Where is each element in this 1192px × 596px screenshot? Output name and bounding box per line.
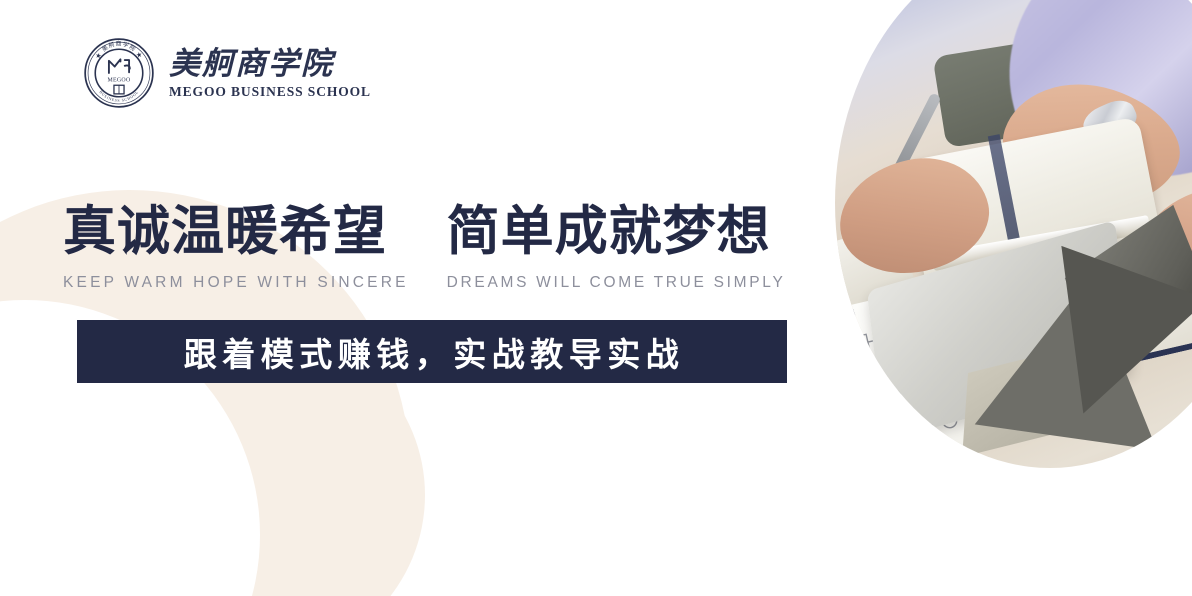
small-notebook-shape (835, 223, 919, 330)
folded-case-facet-light (962, 339, 1104, 457)
paper-sketch-drawing-icon (835, 289, 1022, 463)
folded-case-facet-mid (1065, 205, 1192, 367)
open-notebook-shape (902, 116, 1163, 294)
business-meeting-photo (835, 0, 1192, 468)
slogan-text: 跟着模式赚钱，实战教导实战 (180, 328, 685, 376)
notebook-page-edge-shape (931, 215, 1151, 271)
headline-phrase-2: 简单成就梦想 DREAMS WILL COME TRUE SIMPLY (447, 203, 786, 291)
notebook-spine-shape (988, 134, 1026, 274)
slogan-bar: 跟着模式赚钱，实战教导实战 (77, 320, 787, 383)
folded-case-facet-darker (1010, 246, 1192, 440)
brand-logo[interactable]: ★ 美舸商学院 ★ BUSINESS SCHOOL MEGOO 美舸商学院 ME… (83, 37, 371, 109)
pen-holding-hand-shape (835, 146, 999, 287)
chair-back-shape (932, 40, 1055, 148)
right-notebook-shape (1083, 252, 1192, 370)
photo-background (835, 0, 1192, 468)
brand-name-cn: 美舸商学院 (169, 47, 371, 82)
sketch-paper-shape (835, 270, 1042, 468)
brand-logo-text: 美舸商学院 MEGOO BUSINESS SCHOOL (169, 45, 371, 102)
lavender-shirt-sleeve-shape (979, 0, 1192, 211)
folded-case-facet-dark (975, 266, 1179, 450)
headline-en-1: KEEP WARM HOPE WITH SINCERE (63, 275, 409, 291)
headline-row: 真诚温暖希望 KEEP WARM HOPE WITH SINCERE 简单成就梦… (63, 203, 803, 291)
promotional-banner: ★ 美舸商学院 ★ BUSINESS SCHOOL MEGOO 美舸商学院 ME… (0, 0, 1192, 596)
headline-block: 真诚温暖希望 KEEP WARM HOPE WITH SINCERE 简单成就梦… (63, 203, 803, 291)
headline-en-2: DREAMS WILL COME TRUE SIMPLY (447, 275, 786, 291)
svg-text:MEGOO: MEGOO (107, 78, 130, 84)
headline-cn-1: 真诚温暖希望 (63, 203, 409, 261)
tablet-stand-shape (867, 220, 1134, 442)
wristwatch-shape (1078, 94, 1141, 147)
brand-name-en: MEGOO BUSINESS SCHOOL (169, 84, 371, 101)
pointing-finger-shape (1051, 161, 1127, 254)
headline-cn-2: 简单成就梦想 (447, 203, 786, 261)
second-person-hand-shape (1133, 178, 1192, 318)
pointing-arm-shape (990, 62, 1192, 230)
megoo-circular-seal-icon: ★ 美舸商学院 ★ BUSINESS SCHOOL MEGOO (83, 37, 155, 109)
pen-shape (859, 92, 941, 240)
headline-phrase-1: 真诚温暖希望 KEEP WARM HOPE WITH SINCERE (63, 203, 409, 291)
